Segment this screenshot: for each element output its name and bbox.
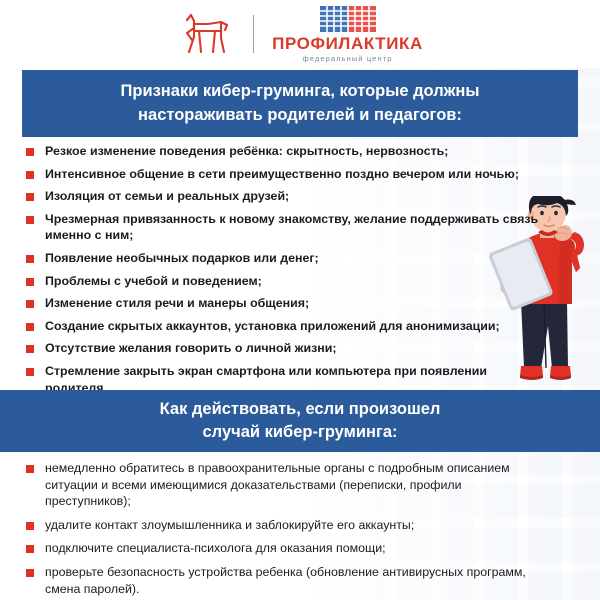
bullet-square-icon [26,522,34,530]
logo-title: ПРОФИЛАКТИКА [272,35,423,52]
list-item: Отсутствие желания говорить о личной жиз… [26,340,546,357]
bullet-square-icon [26,193,34,201]
bullet-square-icon [26,368,34,376]
bullet-square-icon [26,171,34,179]
list-item-text: удалите контакт злоумышленника и заблоки… [45,517,414,534]
list-item-text: Проблемы с учебой и поведением; [45,273,262,290]
list-item-text: Интенсивное общение в сети преимуществен… [45,166,519,183]
bullet-square-icon [26,216,34,224]
section1-heading-band: Признаки кибер-груминга, которые должны … [22,70,578,137]
bullet-square-icon [26,148,34,156]
bullet-square-icon [26,323,34,331]
list-item-text: подключите специалиста-психолога для ока… [45,540,386,557]
section1-heading-line1: Признаки кибер-груминга, которые должны [121,80,480,103]
list-item-text: Отсутствие желания говорить о личной жиз… [45,340,336,357]
list-item: немедленно обратитесь в правоохранительн… [26,460,550,510]
list-item: Изоляция от семьи и реальных друзей; [26,188,546,205]
bullet-square-icon [26,255,34,263]
section1-list: Резкое изменение поведения ребёнка: скры… [26,143,546,402]
logo-bar: ПРОФИЛАКТИКА федеральный центр [0,0,600,68]
list-item: Чрезмерная привязанность к новому знаком… [26,211,546,244]
bullet-square-icon [26,545,34,553]
logo-text-block: ПРОФИЛАКТИКА федеральный центр [272,6,423,63]
section2-list: немедленно обратитесь в правоохранительн… [26,460,550,600]
list-item-text: Изменение стиля речи и манеры общения; [45,295,309,312]
list-item-text: проверьте безопасность устройства ребенк… [45,564,550,597]
logo-subtitle: федеральный центр [303,55,393,63]
list-item: проверьте безопасность устройства ребенк… [26,564,550,597]
list-item: подключите специалиста-психолога для ока… [26,540,550,557]
bullet-square-icon [26,465,34,473]
list-item: Интенсивное общение в сети преимуществен… [26,166,546,183]
bullet-square-icon [26,345,34,353]
list-item-text: немедленно обратитесь в правоохранительн… [45,460,550,510]
list-item: Проблемы с учебой и поведением; [26,273,546,290]
list-item: Резкое изменение поведения ребёнка: скры… [26,143,546,160]
infographic-poster: ПРОФИЛАКТИКА федеральный центр Признаки … [0,0,600,600]
list-item: Появление необычных подарков или денег; [26,250,546,267]
list-item-text: Чрезмерная привязанность к новому знаком… [45,211,546,244]
section2-heading-band: Как действовать, если произошел случай к… [0,390,600,452]
list-item: удалите контакт злоумышленника и заблоки… [26,517,550,534]
logo-divider [253,15,254,53]
section1-heading-line2: настораживать родителей и педагогов: [138,104,462,127]
list-item-text: Создание скрытых аккаунтов, установка пр… [45,318,500,335]
list-item-text: Появление необычных подарков или денег; [45,250,319,267]
section2-heading-line1: Как действовать, если произошел [160,398,441,421]
logo-grid-icon [320,6,376,32]
horse-line-art-icon [177,11,235,57]
list-item-text: Резкое изменение поведения ребёнка: скры… [45,143,448,160]
bullet-square-icon [26,300,34,308]
section2-heading-line2: случай кибер-груминга: [203,421,398,444]
bullet-square-icon [26,569,34,577]
list-item: Создание скрытых аккаунтов, установка пр… [26,318,546,335]
list-item: Изменение стиля речи и манеры общения; [26,295,546,312]
list-item-text: Изоляция от семьи и реальных друзей; [45,188,289,205]
bullet-square-icon [26,278,34,286]
